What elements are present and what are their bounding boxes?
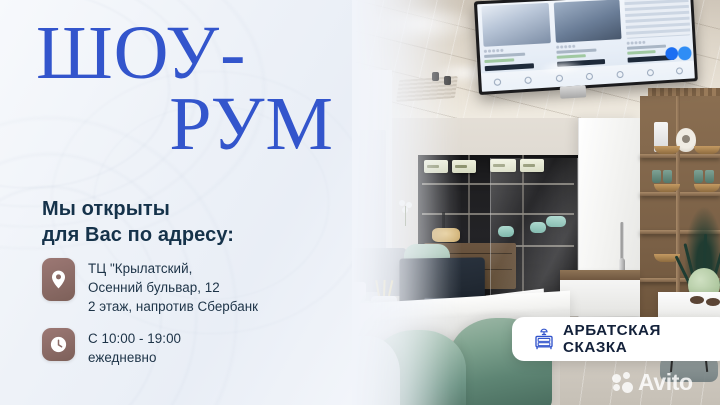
wood-bowl bbox=[654, 146, 680, 154]
cake-stand bbox=[432, 228, 460, 242]
ceiling-light-glow bbox=[360, 4, 480, 44]
tv-product-card bbox=[554, 0, 623, 66]
brand-name: АРБАТСКАЯ СКАЗКА bbox=[563, 322, 720, 356]
address-line-1: ТЦ "Крылатский, bbox=[88, 259, 258, 278]
info-list: ТЦ "Крылатский, Осенний бульвар, 12 2 эт… bbox=[42, 258, 342, 379]
address-row: ТЦ "Крылатский, Осенний бульвар, 12 2 эт… bbox=[42, 258, 342, 316]
address-line-3: 2 этаж, напротив Сбербанк bbox=[88, 297, 258, 316]
nightstand-lamp-icon bbox=[534, 328, 554, 350]
storage-box bbox=[452, 160, 476, 173]
hours-text: С 10:00 - 19:00 ежедневно bbox=[88, 328, 181, 367]
dark-decor-object bbox=[706, 298, 720, 306]
wood-bowl bbox=[654, 184, 680, 192]
wood-bowl bbox=[694, 184, 720, 192]
avito-dots-icon bbox=[612, 372, 634, 394]
green-jar bbox=[663, 170, 672, 183]
screen-glare bbox=[537, 59, 584, 76]
tv-product-cards bbox=[481, 0, 691, 71]
wood-bowl bbox=[694, 146, 720, 154]
ceiling-spotlight bbox=[432, 72, 439, 81]
storage-box bbox=[424, 160, 448, 173]
avito-wordmark: Avito bbox=[638, 369, 693, 396]
hours-line-2: ежедневно bbox=[88, 348, 181, 367]
green-jar bbox=[694, 170, 703, 183]
subtitle-line-1: Мы открыты bbox=[42, 196, 322, 222]
subtitle: Мы открыты для Вас по адресу: bbox=[42, 196, 322, 249]
ceiling-spotlight bbox=[444, 76, 451, 85]
dark-decor-object bbox=[690, 296, 704, 304]
hours-line-1: С 10:00 - 19:00 bbox=[88, 329, 181, 348]
hours-row: С 10:00 - 19:00 ежедневно bbox=[42, 328, 342, 367]
map-pin-icon bbox=[51, 270, 66, 289]
map-pin-icon-tile bbox=[42, 258, 75, 301]
subtitle-line-2: для Вас по адресу: bbox=[42, 222, 322, 248]
page-title: ШОУ- РУМ bbox=[36, 18, 336, 159]
wall-mounted-tv bbox=[474, 0, 698, 95]
title-line-1: ШОУ- bbox=[36, 18, 336, 89]
tv-screen bbox=[477, 0, 695, 92]
address-line-2: Осенний бульвар, 12 bbox=[88, 278, 258, 297]
address-text: ТЦ "Крылатский, Осенний бульвар, 12 2 эт… bbox=[88, 258, 258, 316]
brand-logo-badge: АРБАТСКАЯ СКАЗКА bbox=[512, 317, 720, 361]
avito-watermark: Avito bbox=[612, 369, 693, 396]
clock-icon bbox=[50, 336, 67, 353]
green-jar bbox=[652, 170, 661, 183]
white-sideboard bbox=[560, 270, 640, 316]
green-jar bbox=[705, 170, 714, 183]
tv-product-card bbox=[481, 3, 552, 71]
clock-icon-tile bbox=[42, 328, 75, 361]
flower-decor bbox=[396, 200, 418, 226]
showroom-ad-banner: ШОУ- РУМ Мы открыты для Вас по адресу: Т… bbox=[0, 0, 720, 405]
tv-mount-bracket bbox=[560, 85, 587, 98]
title-line-2: РУМ bbox=[36, 89, 336, 160]
wall-panel bbox=[352, 130, 386, 250]
